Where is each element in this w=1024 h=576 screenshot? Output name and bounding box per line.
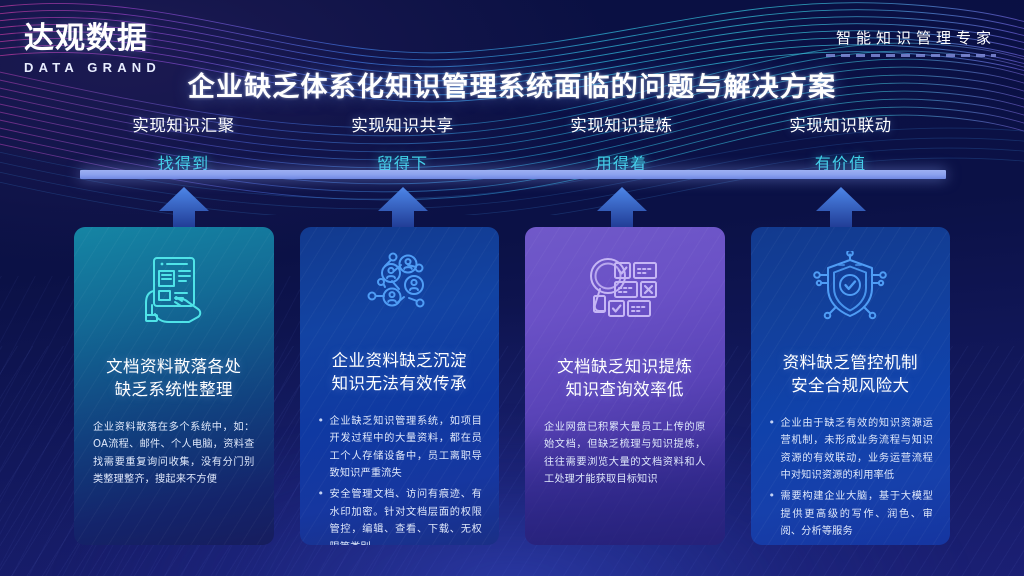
card-icon-wrap-1 [135,251,213,329]
step-header-1: 实现知识汇聚 找得到 [74,112,293,174]
card-bullet-list-4: 企业由于缺乏有效的知识资源运营机制，未形成业务流程与知识资源的有效联动，业务运营… [768,415,934,541]
step-header-3: 实现知识提炼 用得着 [512,112,731,174]
arrow-cell-1 [74,186,293,231]
card-title-2: 企业资料缺乏沉淀知识无法有效传承 [332,349,467,396]
hand-tablet-document-icon [135,253,213,327]
card-title-4: 资料缺乏管控机制安全合规风险大 [783,351,918,398]
arrow-cell-3 [512,186,731,231]
slide-root: 达观数据 DATA GRAND 智能知识管理专家 企业缺乏体系化知识管理系统面临… [0,0,1024,576]
magnifier-checklist-icon [584,255,666,325]
card-bullet-4-1: 企业由于缺乏有效的知识资源运营机制，未形成业务流程与知识资源的有效联动，业务运营… [768,415,934,485]
card-knowledge-aggregation[interactable]: 文档资料散落各处缺乏系统性整理 企业资料散落在多个系统中，如：OA流程、邮件、个… [74,227,274,545]
step-main-label-1: 实现知识汇聚 [74,112,293,136]
card-icon-wrap-2 [361,251,437,323]
card-body-4: 企业由于缺乏有效的知识资源运营机制，未形成业务流程与知识资源的有效联动，业务运营… [768,415,934,544]
card-knowledge-sharing[interactable]: 企业资料缺乏沉淀知识无法有效传承 企业缺乏知识管理系统，如项目开发过程中的大量资… [300,227,500,545]
tagline-label: 智能知识管理专家 [826,31,996,46]
step-header-4: 实现知识联动 有价值 [731,112,950,174]
card-title-1: 文档资料散落各处缺乏系统性整理 [106,355,241,402]
page-title: 企业缺乏体系化知识管理系统面临的问题与解决方案 [0,65,1024,104]
card-bullet-2-2: 安全管理文档、访问有痕迹、有水印加密。针对文档层面的权限管控，编辑、查看、下载、… [317,486,483,545]
card-icon-wrap-3 [584,251,666,329]
arrow-row [74,186,950,231]
card-body-2: 企业缺乏知识管理系统，如项目开发过程中的大量资料，都在员工个人存储设备中，员工离… [317,413,483,545]
arrow-up-icon-4 [815,186,867,230]
card-bullet-list-2: 企业缺乏知识管理系统，如项目开发过程中的大量资料，都在员工个人存储设备中，员工离… [317,413,483,545]
step-header-row: 实现知识汇聚 找得到 实现知识共享 留得下 实现知识提炼 用得着 实现知识联动 … [74,112,950,174]
card-knowledge-governance[interactable]: 资料缺乏管控机制安全合规风险大 企业由于缺乏有效的知识资源运营机制，未形成业务流… [751,227,951,545]
card-title-3: 文档缺乏知识提炼知识查询效率低 [557,355,692,402]
horizontal-divider-bar [80,170,946,179]
arrow-cell-4 [731,186,950,231]
step-main-label-4: 实现知识联动 [731,112,950,136]
card-bullet-2-1: 企业缺乏知识管理系统，如项目开发过程中的大量资料，都在员工个人存储设备中，员工离… [317,413,483,483]
brand-tagline: 智能知识管理专家 [826,31,996,57]
card-icon-wrap-4 [810,251,890,325]
card-body-3: 企业网盘已积累大量员工上传的原始文档，但缺乏梳理与知识提炼，往往需要浏览大量的文… [542,419,708,489]
shield-check-circuit-icon [810,251,890,325]
people-network-icon [361,251,437,323]
card-body-1: 企业资料散落在多个系统中，如：OA流程、邮件、个人电脑，资料查找需要重复询问收集… [91,419,257,489]
card-bullet-4-2: 需要构建企业大脑，基于大模型提供更高级的写作、润色、审阅、分析等服务 [768,488,934,541]
step-main-label-3: 实现知识提炼 [512,112,731,136]
logo-text-cn: 达观数据 [24,24,161,54]
step-header-2: 实现知识共享 留得下 [293,112,512,174]
arrow-up-icon-3 [596,186,648,230]
arrow-cell-2 [293,186,512,231]
step-main-label-2: 实现知识共享 [293,112,512,136]
card-row: 文档资料散落各处缺乏系统性整理 企业资料散落在多个系统中，如：OA流程、邮件、个… [74,227,950,545]
arrow-up-icon-1 [158,186,210,230]
card-knowledge-refinement[interactable]: 文档缺乏知识提炼知识查询效率低 企业网盘已积累大量员工上传的原始文档，但缺乏梳理… [525,227,725,545]
tagline-dashed-rule [826,54,996,57]
arrow-up-icon-2 [377,186,429,230]
